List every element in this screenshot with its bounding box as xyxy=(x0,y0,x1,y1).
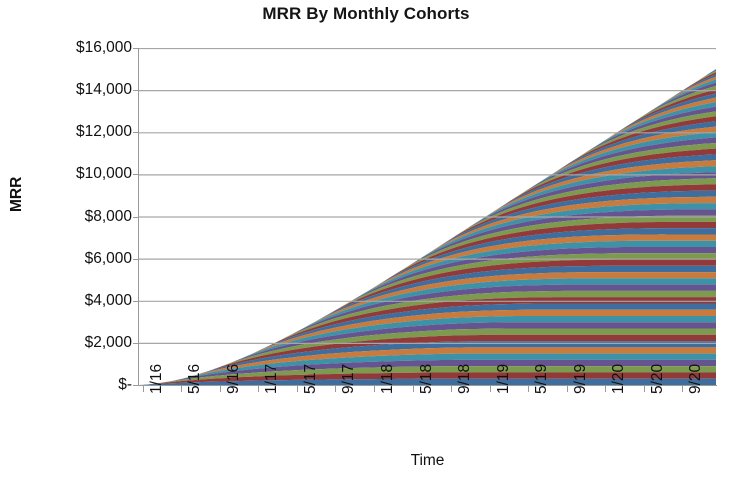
y-axis-tick-label: $2,000 xyxy=(4,335,132,351)
x-axis-tick-label: 5/19 xyxy=(534,338,550,394)
x-axis-tick-label: 1/17 xyxy=(264,338,280,394)
x-axis-tick-label: 9/16 xyxy=(226,338,242,394)
x-axis-tick-label: 5/20 xyxy=(650,338,666,394)
x-axis-tick-mark xyxy=(220,386,221,392)
x-axis-tick-mark xyxy=(605,386,606,392)
y-axis-tick-label: $16,000 xyxy=(4,40,132,56)
y-axis-line xyxy=(138,48,139,386)
plot-area xyxy=(138,48,716,385)
x-axis-tick-mark xyxy=(528,386,529,392)
x-axis-tick-labels: 1/165/169/161/175/179/171/185/189/181/19… xyxy=(0,386,732,446)
x-axis-tick-label: 1/19 xyxy=(496,338,512,394)
x-axis-tick-label: 1/16 xyxy=(149,338,165,394)
x-axis-tick-label: 1/20 xyxy=(611,338,627,394)
x-axis-tick-mark xyxy=(644,386,645,392)
x-axis-tick-mark xyxy=(374,386,375,392)
x-axis-tick-label: 5/16 xyxy=(187,338,203,394)
x-axis-tick-mark xyxy=(335,386,336,392)
x-axis-tick-label: 9/18 xyxy=(457,338,473,394)
x-axis-tick-mark xyxy=(297,386,298,392)
y-axis-tick-label: $14,000 xyxy=(4,82,132,98)
x-axis-tick-mark xyxy=(143,386,144,392)
x-axis-tick-mark xyxy=(181,386,182,392)
x-axis-tick-mark xyxy=(413,386,414,392)
x-axis-tick-mark xyxy=(451,386,452,392)
x-axis-tick-label: 9/20 xyxy=(688,338,704,394)
x-axis-title: Time xyxy=(138,452,717,470)
x-axis-tick-label: 9/17 xyxy=(341,338,357,394)
x-axis-tick-label: 9/19 xyxy=(573,338,589,394)
y-axis-tick-label: $12,000 xyxy=(4,124,132,140)
x-axis-tick-label: 5/18 xyxy=(419,338,435,394)
x-axis-tick-mark xyxy=(258,386,259,392)
x-axis-tick-label: 1/18 xyxy=(380,338,396,394)
x-axis-tick-mark xyxy=(682,386,683,392)
y-axis-tick-label: $6,000 xyxy=(4,251,132,267)
stacked-area-series xyxy=(138,48,716,385)
y-axis-tick-label: $4,000 xyxy=(4,293,132,309)
chart-container: MRR By Monthly Cohorts $16,000$14,000$12… xyxy=(0,0,732,482)
x-axis-tick-mark xyxy=(567,386,568,392)
y-axis-title: MRR xyxy=(8,186,26,212)
x-axis-tick-label: 5/17 xyxy=(303,338,319,394)
x-axis-tick-mark xyxy=(490,386,491,392)
